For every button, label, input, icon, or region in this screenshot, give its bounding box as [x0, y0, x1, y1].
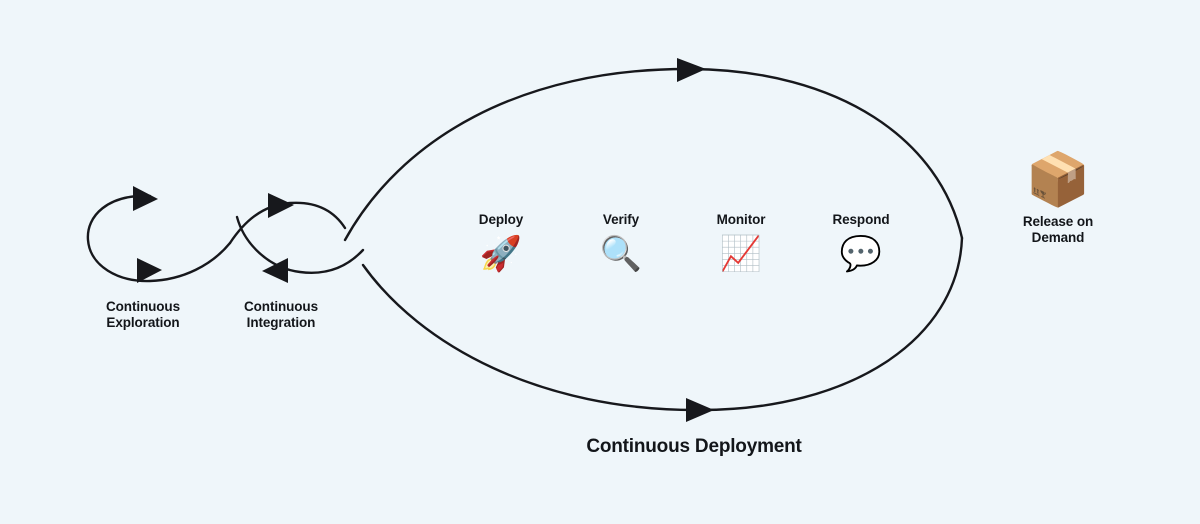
continuous-integration-loop: [230, 193, 363, 283]
speech-balloon-icon: 💬: [832, 231, 889, 277]
deployment-top-arrowhead: [677, 58, 706, 82]
exploration-bottom-arrowhead: [137, 258, 162, 283]
integration-bottom-arrowhead: [262, 258, 288, 283]
integration-top-arrowhead: [268, 193, 294, 218]
chart-increasing-icon: 📈: [717, 231, 766, 277]
label-continuous-exploration: Continuous Exploration: [106, 299, 180, 331]
phase-deploy-label: Deploy: [479, 212, 523, 227]
exploration-loop-path: [88, 196, 230, 281]
release-on-demand[interactable]: 📦 Release on Demand: [1023, 150, 1093, 246]
continuous-exploration-loop: [88, 186, 230, 283]
rocket-icon: 🚀: [479, 231, 523, 277]
release-on-demand-label: Release on Demand: [1023, 214, 1093, 246]
label-continuous-integration: Continuous Integration: [244, 299, 318, 331]
phase-respond-label: Respond: [832, 212, 889, 227]
phase-respond[interactable]: Respond 💬: [832, 212, 889, 277]
phase-monitor-label: Monitor: [717, 212, 766, 227]
exploration-top-arrowhead: [133, 186, 158, 211]
continuous-deployment-title: Continuous Deployment: [586, 436, 801, 458]
phase-monitor[interactable]: Monitor 📈: [717, 212, 766, 277]
phase-verify-label: Verify: [600, 212, 642, 227]
diagram-canvas: Continuous Exploration Continuous Integr…: [0, 0, 1200, 524]
phase-verify[interactable]: Verify 🔍: [600, 212, 642, 277]
magnifying-glass-icon: 🔍: [600, 231, 642, 277]
integration-upper-path: [230, 203, 345, 243]
deployment-bottom-arrowhead: [686, 398, 714, 422]
phase-deploy[interactable]: Deploy 🚀: [479, 212, 523, 277]
package-box-icon: 📦: [1023, 150, 1093, 210]
